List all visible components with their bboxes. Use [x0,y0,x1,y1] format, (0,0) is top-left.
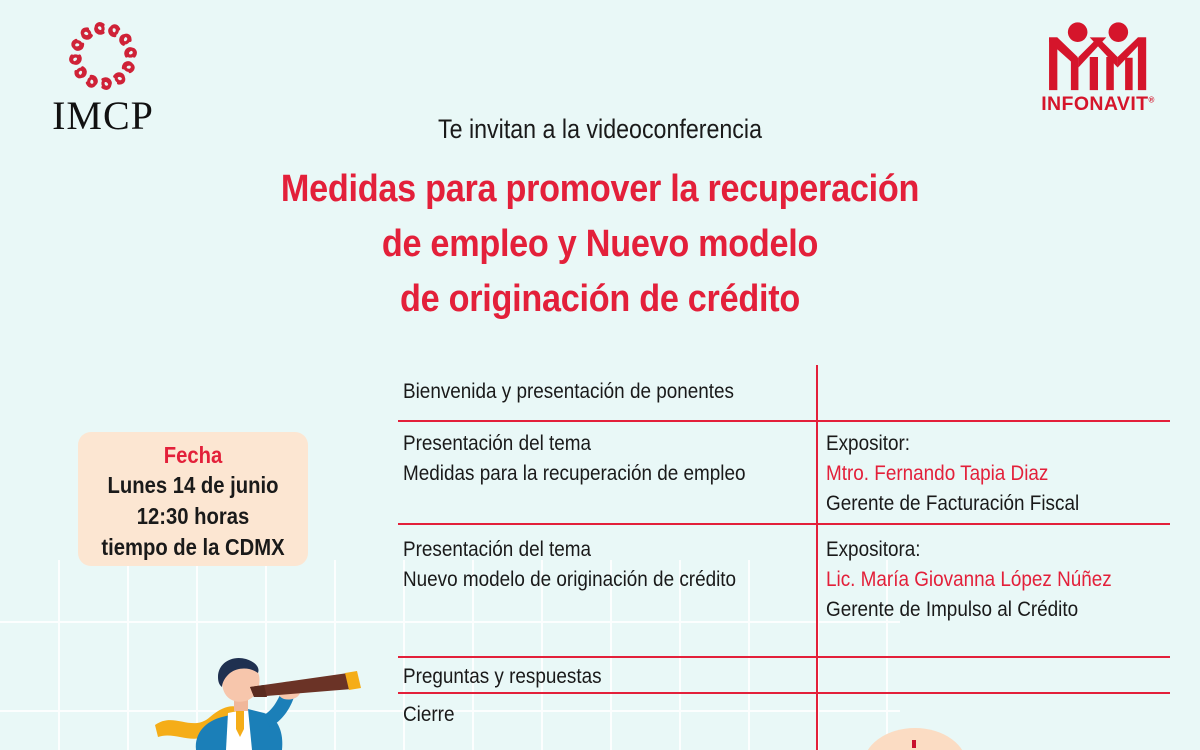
imcp-sunburst-icon [65,18,141,94]
agenda-topic-line: Presentación del tema [403,429,770,459]
agenda-speaker-cell: Expositora: Lic. María Giovanna López Nú… [826,535,1170,625]
page-title-line-1: Medidas para promover la recuperación [60,162,1140,217]
agenda-row-divider [398,692,1170,694]
agenda-topic-line: Medidas para la recuperación de empleo [403,459,770,489]
invite-line: Te invitan a la videoconferencia [84,114,1116,145]
speaker-role-label: Expositor: [826,429,1136,459]
date-card: Fecha Lunes 14 de junio 12:30 horas tiem… [78,432,308,566]
page-title: Medidas para promover la recuperación de… [0,162,1200,327]
agenda-topic-cell: Presentación del tema Medidas para la re… [403,429,811,489]
agenda-topic-line: Presentación del tema [403,535,770,565]
infonavit-wordmark: INFONAVIT® [1034,95,1162,115]
speaker-name: Mtro. Fernando Tapia Diaz [826,459,1136,489]
agenda-speaker-cell: Expositor: Mtro. Fernando Tapia Diaz Ger… [826,429,1170,519]
person-head-illustration [860,726,970,750]
agenda-topic-line: Bienvenida y presentación de ponentes [403,377,770,407]
agenda-topic-cell: Preguntas y respuestas [403,662,811,692]
date-card-line-3: tiempo de la CDMX [92,532,294,563]
infonavit-wordmark-text: INFONAVIT [1041,93,1148,115]
agenda-topic-line: Nuevo modelo de originación de crédito [403,565,770,595]
agenda-column-divider [816,365,818,750]
infonavit-logo: INFONAVIT® [1034,20,1162,124]
agenda-row-divider [398,523,1170,525]
date-card-line-1: Lunes 14 de junio [92,470,294,501]
page-title-line-3: de originación de crédito [60,272,1140,327]
agenda-topic-cell: Presentación del tema Nuevo modelo de or… [403,535,811,595]
speaker-title: Gerente de Impulso al Crédito [826,595,1136,625]
page-title-line-2: de empleo y Nuevo modelo [60,217,1140,272]
agenda-topic-line: Cierre [403,700,770,730]
speaker-name: Lic. María Giovanna López Núñez [826,565,1136,595]
date-card-line-2: 12:30 horas [92,501,294,532]
agenda-row-divider [398,656,1170,658]
date-card-title: Fecha [92,440,294,470]
speaker-title: Gerente de Facturación Fiscal [826,489,1136,519]
speaker-role-label: Expositora: [826,535,1136,565]
agenda-topic-cell: Bienvenida y presentación de ponentes [403,377,811,407]
agenda-topic-line: Preguntas y respuestas [403,662,770,692]
agenda-topic-cell: Cierre [403,700,811,730]
infonavit-two-figures-house-icon [1034,20,1162,94]
agenda-row-divider [398,420,1170,422]
registered-mark: ® [1148,96,1154,105]
man-with-telescope-illustration [152,655,382,750]
